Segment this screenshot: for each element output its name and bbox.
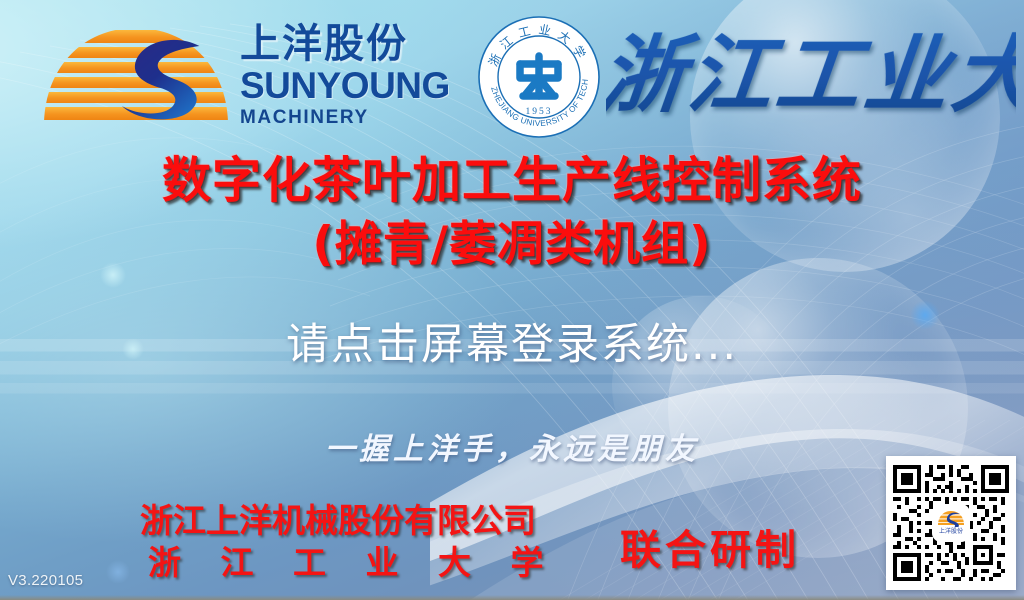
splash-screen[interactable]: 上洋股份 SUNYOUNG MACHINERY 浙江工业大学 ZHEJIANG … bbox=[0, 0, 1024, 600]
company-name-en: SUNYOUNG bbox=[240, 67, 470, 105]
version-label: V3.220105 bbox=[8, 572, 83, 589]
svg-text:上洋股份: 上洋股份 bbox=[939, 527, 963, 535]
university-name-calligraphy: 浙江工业大学 bbox=[606, 22, 1016, 134]
qr-code[interactable]: 上洋股份 bbox=[886, 456, 1016, 590]
company-name-cn: 上洋股份 bbox=[240, 24, 470, 64]
company-slogan: 一握上洋手，永远是朋友 bbox=[0, 424, 1024, 468]
footer-organizations: 浙江上洋机械股份有限公司 浙 江 工 业 大 学 bbox=[140, 500, 660, 584]
footer-joint-development: 联合研制 bbox=[620, 516, 800, 576]
footer-line-company: 浙江上洋机械股份有限公司 bbox=[140, 500, 660, 542]
sunyoung-wordmark: 上洋股份 SUNYOUNG MACHINERY bbox=[240, 24, 470, 129]
company-name-sub: MACHINERY bbox=[240, 107, 470, 129]
zhejiang-university-of-technology-seal-icon: 浙江工业大学 ZHEJIANG UNIVERSITY OF TECHNOLOGY… bbox=[476, 14, 602, 140]
header-logos: 上洋股份 SUNYOUNG MACHINERY 浙江工业大学 ZHEJIANG … bbox=[0, 0, 1024, 150]
sunyoung-dome-logo-icon bbox=[36, 22, 236, 132]
svg-text:浙江工业大学: 浙江工业大学 bbox=[606, 25, 1016, 124]
title-line-2: (摊青/萎凋类机组) bbox=[0, 214, 1024, 276]
footer-credits: 浙江上洋机械股份有限公司 浙 江 工 业 大 学 联合研制 bbox=[0, 498, 1024, 594]
system-title: 数字化茶叶加工生产线控制系统 (摊青/萎凋类机组) bbox=[0, 150, 1024, 276]
title-line-1: 数字化茶叶加工生产线控制系统 bbox=[0, 150, 1024, 212]
footer-line-university: 浙 江 工 业 大 学 bbox=[140, 542, 660, 584]
svg-text:1953: 1953 bbox=[526, 107, 553, 117]
sunyoung-mini-logo-icon: 上洋股份 bbox=[934, 506, 968, 540]
bottom-divider bbox=[0, 595, 1024, 600]
login-hint-text[interactable]: 请点击屏幕登录系统... bbox=[0, 310, 1024, 372]
